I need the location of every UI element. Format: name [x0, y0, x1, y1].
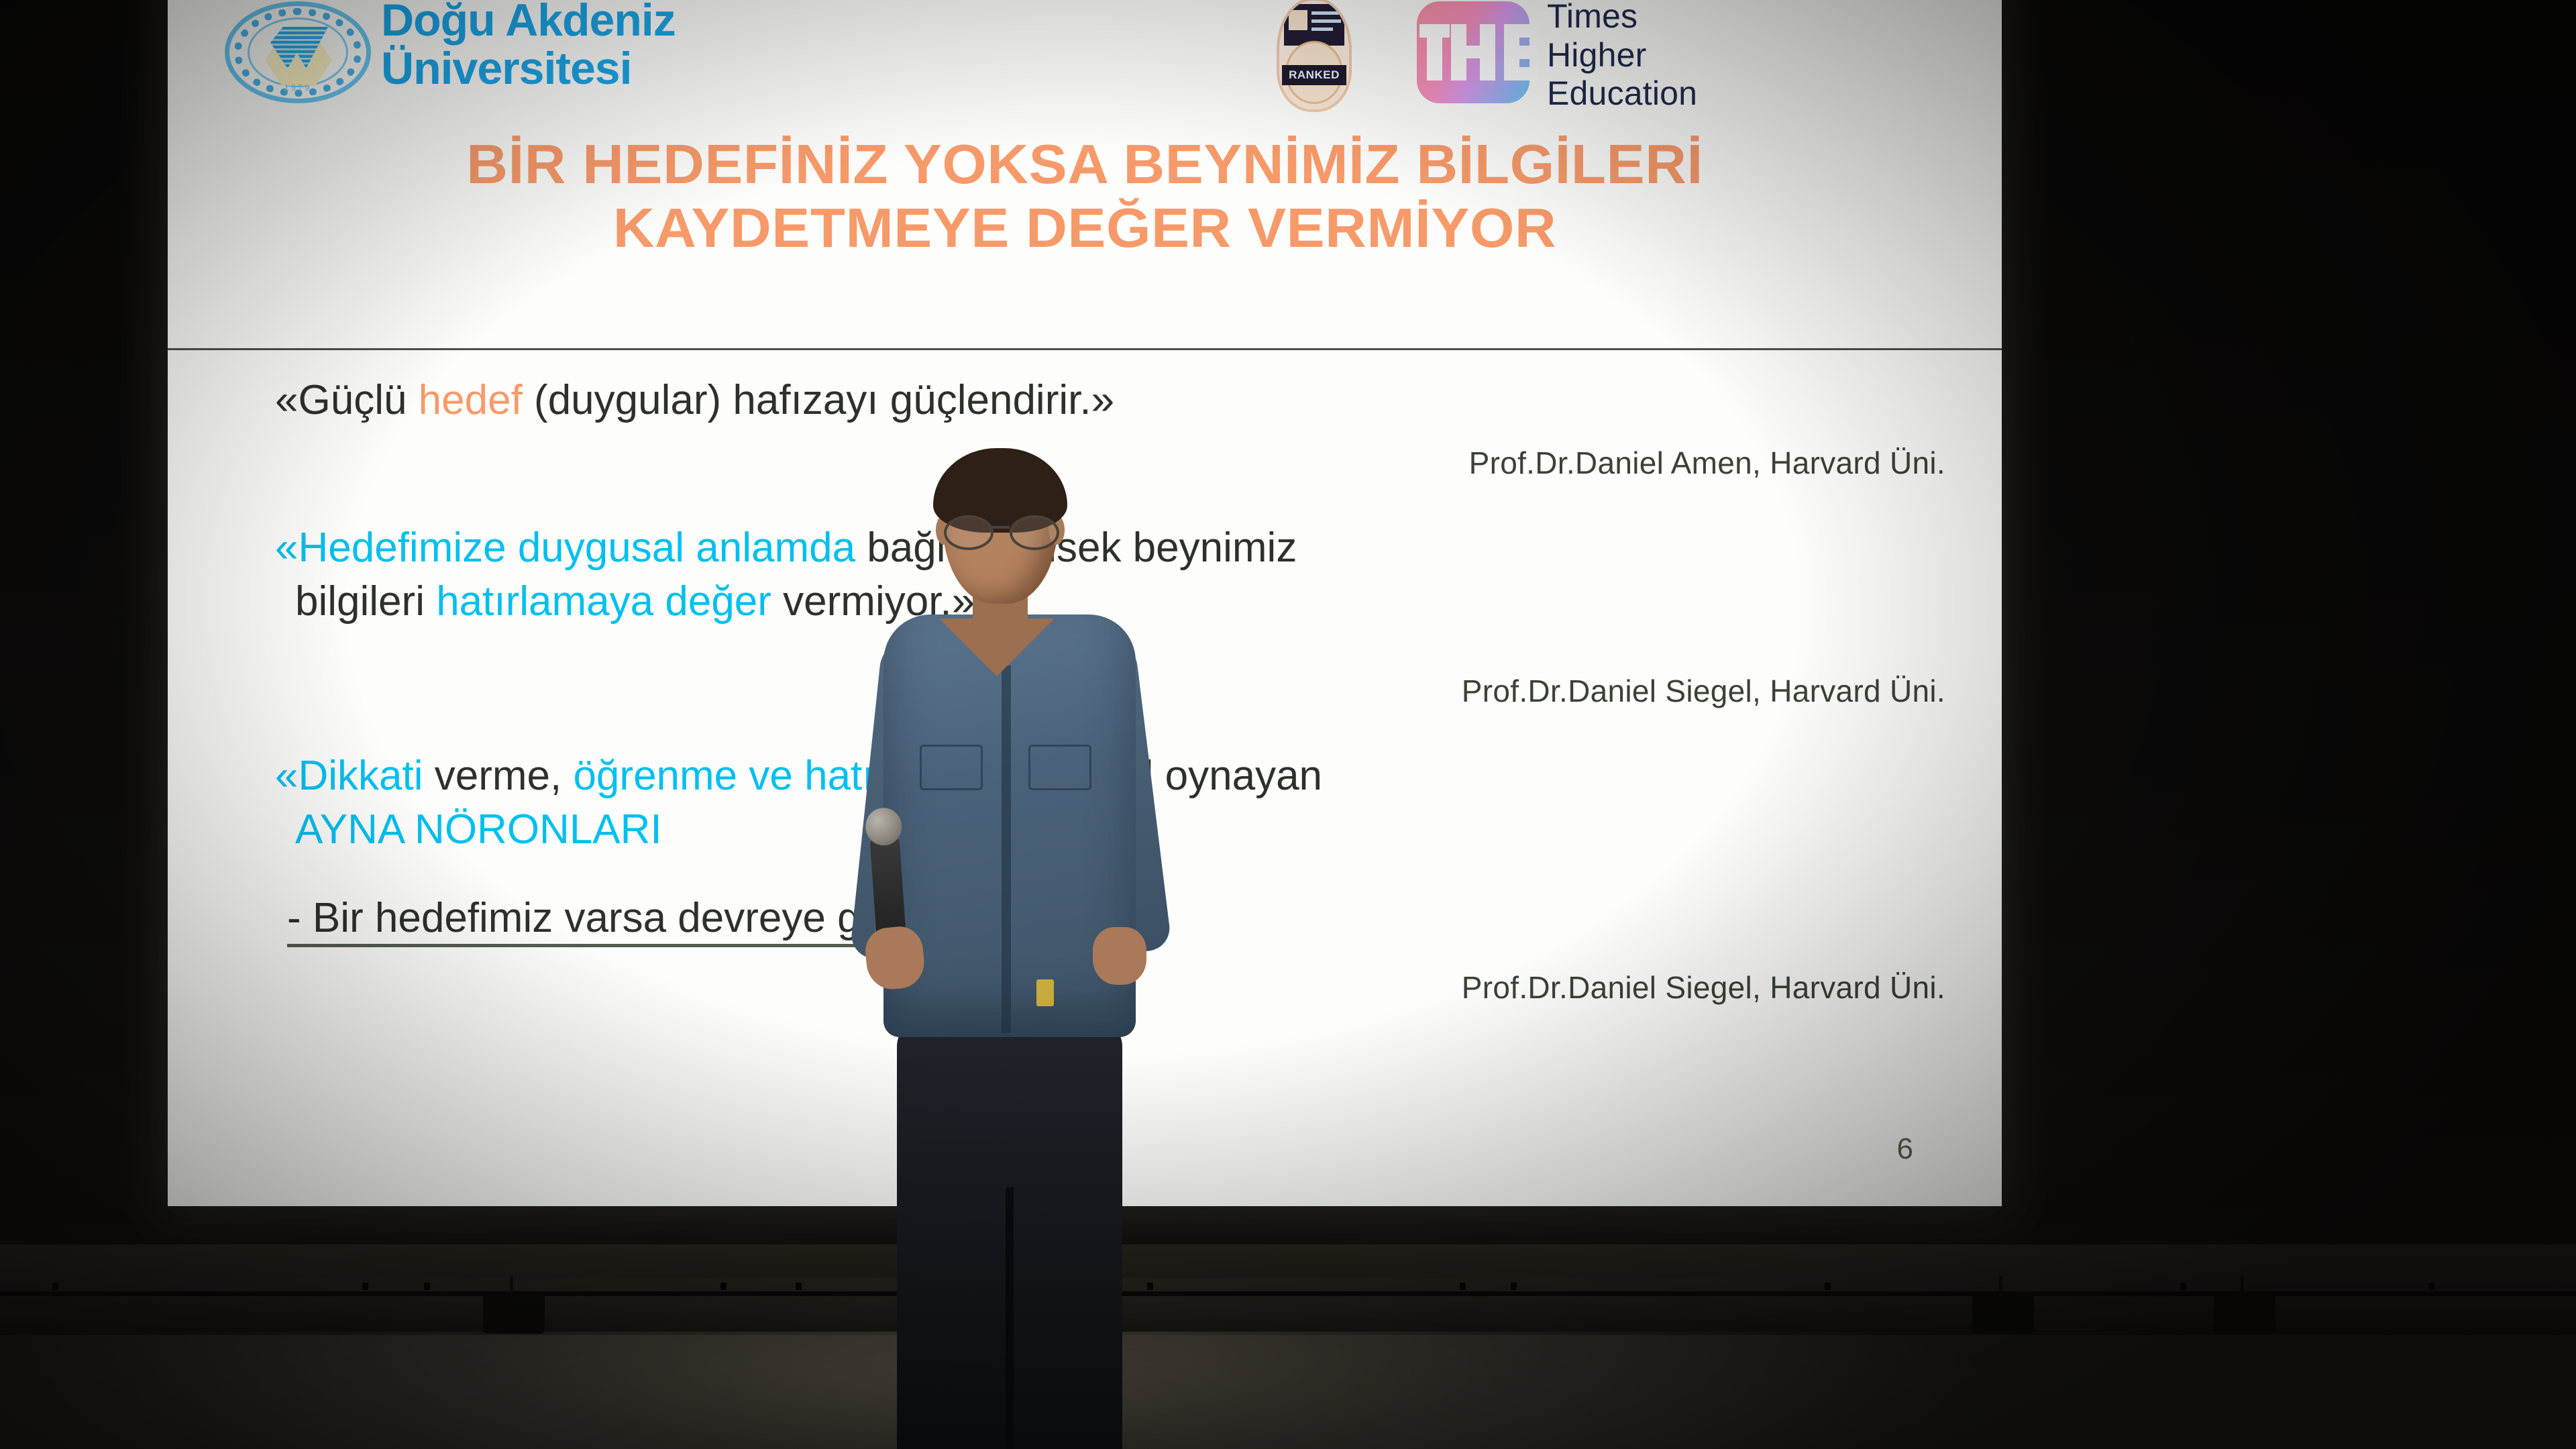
attribution-1: Prof.Dr.Daniel Amen, Harvard Üni. — [1469, 444, 1945, 483]
wall-anchor-dot — [720, 1283, 727, 1290]
university-name-line2: Üniversitesi — [381, 44, 676, 93]
university-name: Doğu Akdeniz Üniversitesi — [381, 0, 676, 93]
times-higher-education-logo-icon — [1417, 1, 1529, 103]
attribution-3: Prof.Dr.Daniel Siegel, Harvard Üni. — [1462, 969, 1945, 1008]
wall-anchor-dot — [1825, 1283, 1831, 1290]
dau-logo-year: 1979 — [225, 83, 371, 93]
quote-3-seg-1: «Dikkati — [275, 753, 423, 799]
stage-floor-light — [2214, 1295, 2275, 1334]
auditorium-stage: 1979 Doğu Akdeniz Üniversitesi RANKED — [0, 0, 2576, 1449]
stage-floor — [0, 1335, 2576, 1449]
slide-page-number: 6 — [1897, 1132, 1913, 1166]
the-text-line2: Higher — [1547, 36, 1697, 75]
wall-anchor-dot — [2180, 1283, 2186, 1290]
the-text-line1: Times — [1547, 0, 1697, 36]
wall-anchor-dot — [796, 1283, 802, 1290]
attribution-2: Prof.Dr.Daniel Siegel, Harvard Üni. — [1462, 672, 1945, 711]
wall-anchor-dot — [2428, 1283, 2434, 1290]
presenter-right-hand — [1093, 927, 1146, 985]
quote-1-seg-3: (duygular) hafızayı güçlendirir.» — [523, 377, 1114, 423]
quote-1-seg-2: hedef — [419, 377, 523, 423]
presenter-figure — [835, 429, 1197, 1449]
presenter-belt-buckle — [1036, 979, 1054, 1006]
quote-1-seg-1: «Güçlü — [275, 377, 419, 423]
university-name-line1: Doğu Akdeniz — [381, 0, 676, 44]
stage-floor-light — [483, 1295, 545, 1334]
wall-anchor-dot — [1511, 1283, 1517, 1290]
the-text-line3: Education — [1547, 74, 1697, 113]
eyeglasses-icon — [940, 515, 1063, 546]
ranked-badge-icon: RANKED — [1277, 0, 1352, 112]
quote-2b-seg-1: bilgileri — [295, 578, 436, 625]
wall-anchor-dot — [1460, 1283, 1466, 1290]
presenter-shirt-placket — [1002, 665, 1011, 1033]
slide-header-logos: 1979 Doğu Akdeniz Üniversitesi RANKED — [168, 0, 2002, 107]
quote-2b-seg-2: hatırlamaya değer — [436, 578, 771, 625]
stage-floor-light — [1972, 1295, 2034, 1334]
slide-title-line2: KAYDETMEYE DEĞER VERMİYOR — [168, 197, 2002, 260]
slide-title: BİR HEDEFİNİZ YOKSA BEYNİMİZ BİLGİLERİ K… — [168, 133, 2002, 260]
stage-wall-lower-band — [0, 1244, 2576, 1332]
presenter-collar — [939, 619, 1055, 676]
wall-anchor-dot — [424, 1283, 430, 1290]
presenter-leg-gap — [1006, 1187, 1014, 1449]
presenter-shirt-pocket — [1028, 745, 1091, 790]
quote-block-1-line-1: «Güçlü hedef (duygular) hafızayı güçlend… — [275, 374, 1939, 427]
title-divider — [168, 348, 2002, 350]
slide-title-line1: BİR HEDEFİNİZ YOKSA BEYNİMİZ BİLGİLERİ — [168, 133, 2002, 197]
quote-3b-seg-1: AYNA NÖRONLARI — [295, 806, 662, 853]
wall-anchor-dot — [362, 1283, 368, 1290]
quote-3-seg-2: verme, — [423, 753, 574, 799]
dau-emblem-icon: 1979 — [225, 1, 371, 103]
stage-wall-edge-line — [0, 1291, 2576, 1296]
wall-anchor-dot — [52, 1283, 58, 1290]
presenter-shirt-pocket — [920, 745, 983, 790]
ranked-badge-label: RANKED — [1289, 68, 1340, 82]
times-higher-education-text: Times Higher Education — [1547, 0, 1697, 113]
quote-2-seg-1: «Hedefimize duygusal anlamda — [275, 525, 855, 571]
